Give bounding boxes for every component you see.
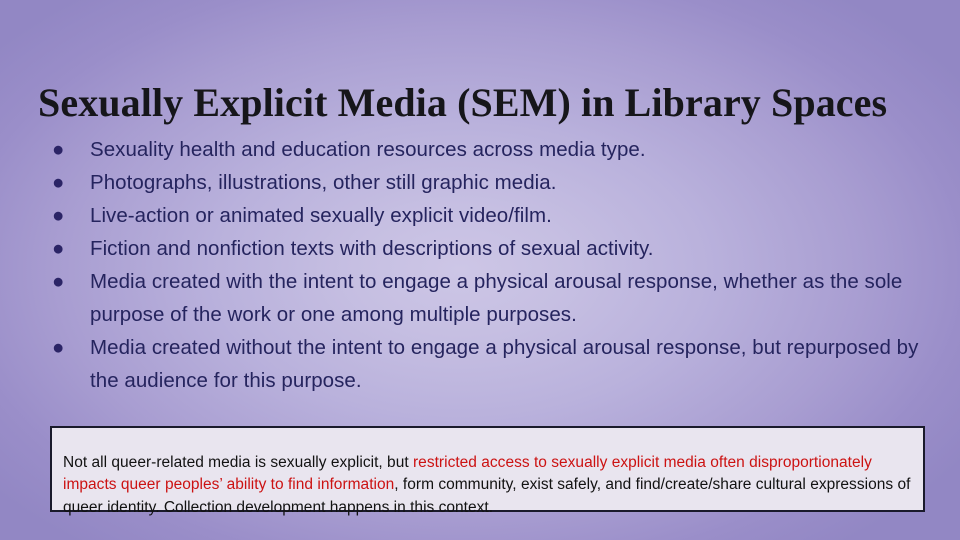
callout-box: Not all queer-related media is sexually … (50, 426, 925, 512)
list-item-label: Media created without the intent to enga… (90, 336, 918, 392)
slide-canvas: Sexually Explicit Media (SEM) in Library… (0, 0, 960, 540)
list-item-label: Fiction and nonfiction texts with descri… (90, 237, 654, 260)
list-item-label: Sexuality health and education resources… (90, 138, 646, 161)
bullet-list: ● Sexuality health and education resourc… (46, 133, 930, 397)
list-item: ● Fiction and nonfiction texts with desc… (46, 232, 930, 265)
bullet-marker-icon: ● (52, 133, 72, 166)
bullet-marker-icon: ● (52, 232, 72, 265)
list-item-label: Live-action or animated sexually explici… (90, 204, 552, 227)
list-item: ● Sexuality health and education resourc… (46, 133, 930, 166)
list-item-label: Media created with the intent to engage … (90, 270, 902, 326)
bullet-marker-icon: ● (52, 199, 72, 232)
list-item: ● Media created without the intent to en… (46, 331, 930, 397)
list-item: ● Live-action or animated sexually expli… (46, 199, 930, 232)
page-title: Sexually Explicit Media (SEM) in Library… (38, 79, 918, 127)
bullet-marker-icon: ● (52, 331, 72, 364)
bullet-marker-icon: ● (52, 166, 72, 199)
callout-text: Not all queer-related media is sexually … (63, 452, 913, 520)
callout-lead-text: Not all queer-related media is sexually … (63, 454, 413, 471)
bullet-marker-icon: ● (52, 265, 72, 298)
list-item-label: Photographs, illustrations, other still … (90, 171, 556, 194)
list-item: ● Photographs, illustrations, other stil… (46, 166, 930, 199)
list-item: ● Media created with the intent to engag… (46, 265, 930, 331)
